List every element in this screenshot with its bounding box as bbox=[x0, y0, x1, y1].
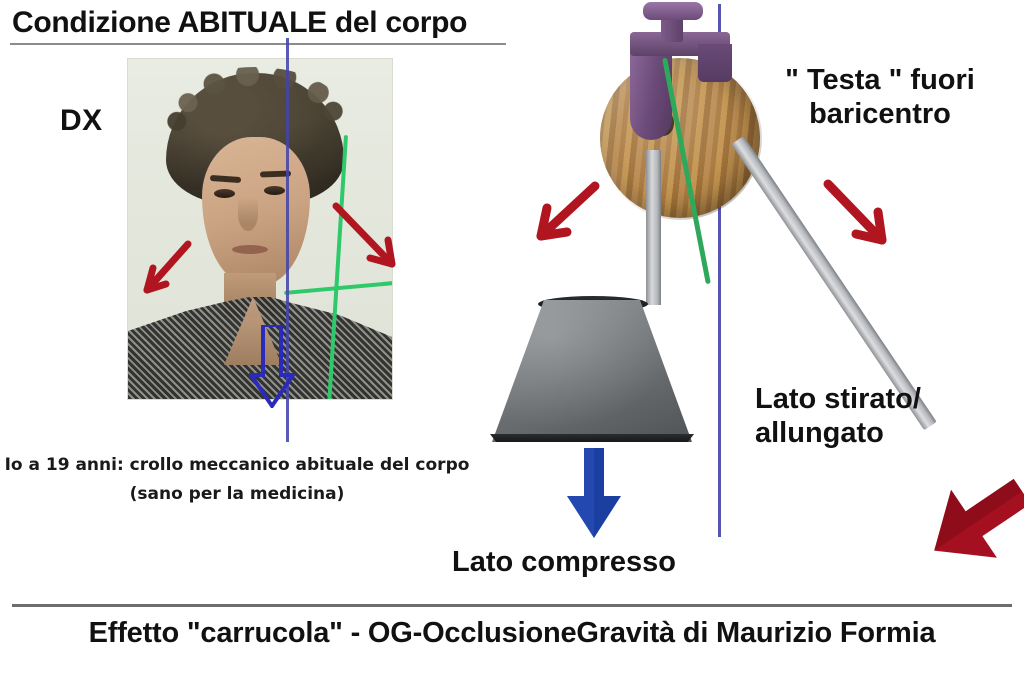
weight-base bbox=[490, 434, 694, 442]
slide-canvas: Condizione ABITUALE del corpo DX bbox=[0, 0, 1024, 699]
red-arrow-icon-traction bbox=[820, 178, 906, 264]
photo-caption-line-1: Io a 19 anni: crollo meccanico abituale … bbox=[2, 455, 472, 475]
photo-eye-right bbox=[264, 186, 285, 195]
photo-caption-line-2: (sano per la medicina) bbox=[2, 484, 472, 504]
label-stretched-side-line1: Lato stirato/ bbox=[755, 382, 921, 416]
pulley-bolt-head bbox=[643, 2, 703, 20]
blue-arrow-icon-down bbox=[565, 448, 623, 540]
red-arrow-icon-compression bbox=[525, 178, 605, 258]
footer-title: Effetto "carrucola" - OG-OcclusioneGravi… bbox=[0, 617, 1024, 650]
blue-arrow-icon-outline bbox=[249, 325, 295, 408]
label-compressed-side: Lato compresso bbox=[452, 545, 676, 579]
weight-block bbox=[492, 300, 692, 442]
label-head-off-center-line1: " Testa " fuori bbox=[756, 63, 1004, 97]
label-stretched-side-line2: allungato bbox=[755, 416, 921, 450]
photo-eye-left bbox=[214, 189, 235, 198]
photo-mouth bbox=[232, 245, 268, 254]
rope-vertical bbox=[646, 150, 661, 305]
footer-divider bbox=[12, 604, 1012, 607]
label-head-off-center-line2: baricentro bbox=[756, 97, 1004, 131]
side-label-dx: DX bbox=[60, 104, 103, 138]
pulley-bracket-nub bbox=[698, 44, 732, 82]
page-title: Condizione ABITUALE del corpo bbox=[12, 6, 467, 40]
red-arrow-icon-left bbox=[128, 238, 200, 310]
label-head-off-center: " Testa " fuori baricentro bbox=[756, 63, 1004, 131]
red-arrow-icon-diagonal bbox=[925, 470, 1024, 578]
red-arrow-icon-right bbox=[330, 200, 416, 286]
photo-nose bbox=[238, 197, 258, 231]
label-stretched-side: Lato stirato/ allungato bbox=[755, 382, 921, 450]
